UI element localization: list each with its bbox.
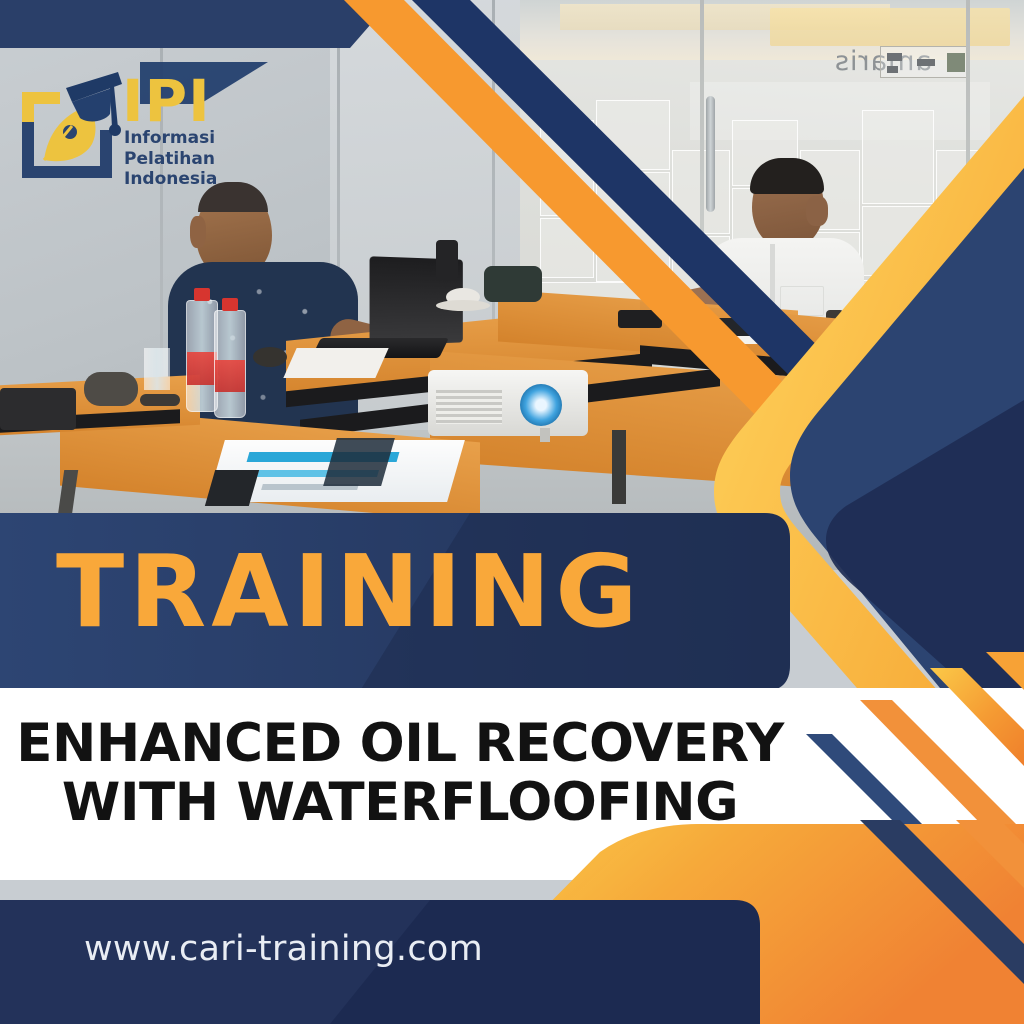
- website-url[interactable]: www.cari-training.com: [84, 929, 483, 969]
- course-title-line2: WITH WATERFLOOFING: [0, 773, 800, 832]
- course-title-line1: ENHANCED OIL RECOVERY: [0, 714, 800, 773]
- training-kicker: TRAINING: [56, 542, 642, 642]
- logo-tagline-line1: Informasi: [124, 128, 217, 149]
- graduation-cap-pen-icon: [14, 70, 122, 182]
- logo-tagline-line3: Indonesia: [124, 169, 217, 190]
- top-navy-band: [0, 0, 392, 48]
- training-poster: amaris: [0, 0, 1024, 1024]
- logo-wordmark: IPI: [122, 72, 211, 130]
- course-title: ENHANCED OIL RECOVERY WITH WATERFLOOFING: [0, 714, 800, 833]
- logo-tagline: Informasi Pelatihan Indonesia: [124, 128, 217, 190]
- logo-tagline-line2: Pelatihan: [124, 149, 217, 170]
- ipi-logo[interactable]: IPI Informasi Pelatihan Indonesia: [14, 70, 224, 190]
